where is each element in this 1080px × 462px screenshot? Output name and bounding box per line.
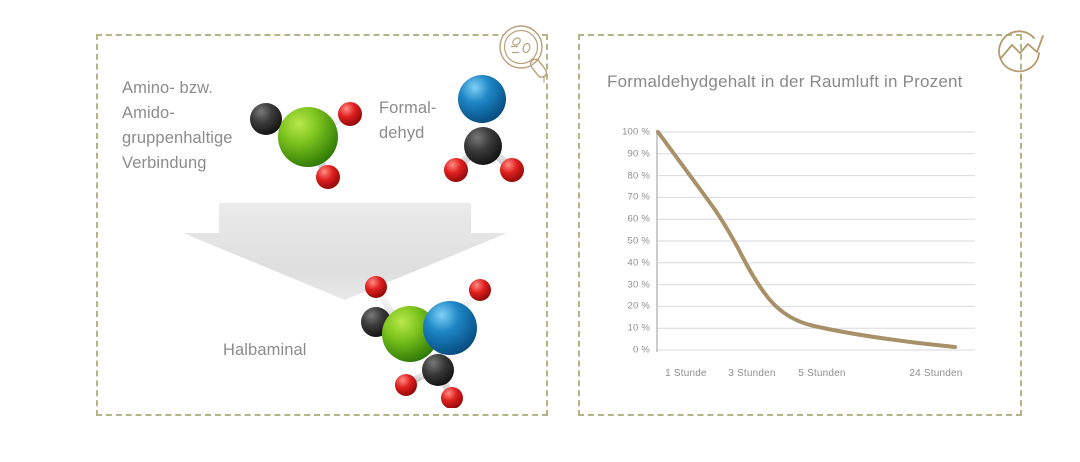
x-tick-label: 1 Stunde (665, 368, 707, 379)
y-tick-label: 10 % (628, 323, 650, 334)
y-tick-label: 20 % (628, 301, 650, 312)
chart-plot: 100 % 90 % 80 % 70 % 60 % 50 % 40 % 30 %… (578, 34, 1022, 416)
x-tick-label: 24 Stunden (909, 368, 962, 379)
y-tick-label: 40 % (628, 257, 650, 268)
y-tick-label: 30 % (628, 279, 650, 290)
x-tick-label: 5 Stunden (798, 368, 845, 379)
chart-x-axis-labels: 1 Stunde 3 Stunden 5 Stunden 24 Stunden (578, 354, 1022, 378)
halbaminal-molecule (324, 272, 508, 408)
chart-gridlines (657, 132, 975, 350)
x-tick-label: 3 Stunden (728, 368, 775, 379)
chart-series-line (658, 132, 955, 347)
amino-compound-molecule (238, 82, 378, 197)
y-tick-label: 100 % (622, 127, 650, 138)
magnifier-molecules-icon (496, 22, 558, 89)
trend-circle-icon (990, 22, 1052, 89)
y-tick-label: 80 % (628, 170, 650, 181)
y-tick-label: 90 % (628, 148, 650, 159)
y-tick-label: 60 % (628, 214, 650, 225)
y-tick-label: 50 % (628, 236, 650, 247)
y-tick-label: 70 % (628, 192, 650, 203)
